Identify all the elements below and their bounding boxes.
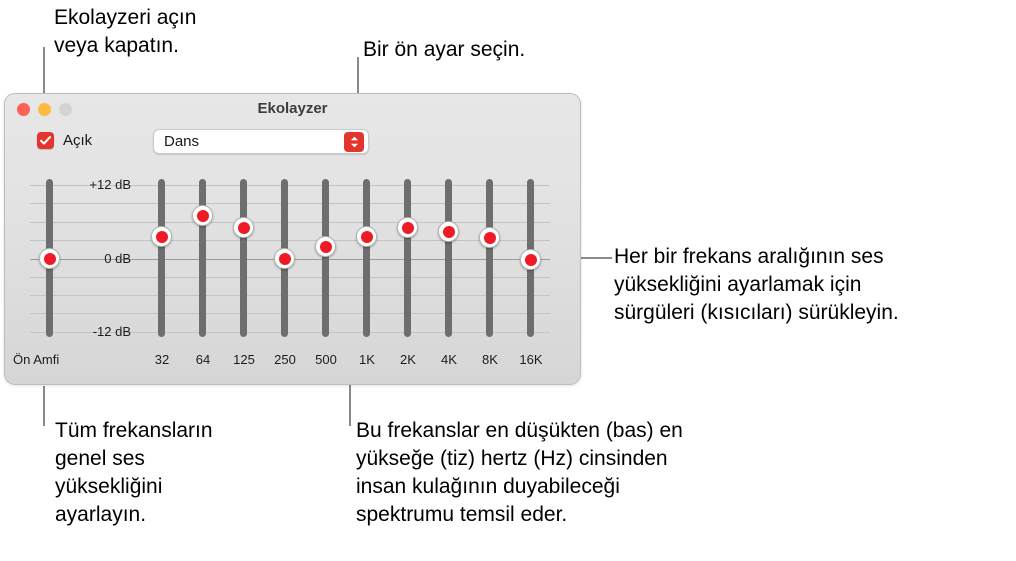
band-slider-thumb[interactable] — [274, 248, 295, 269]
band-slider-thumb-dot — [484, 232, 496, 244]
band-slider-thumb[interactable] — [479, 227, 500, 248]
frequency-label-32: 32 — [142, 352, 182, 367]
gridline — [30, 240, 550, 241]
band-slider-1k[interactable] — [363, 179, 370, 337]
band-slider-2k[interactable] — [404, 179, 411, 337]
band-slider-track[interactable] — [445, 179, 452, 337]
frequency-label-250: 250 — [265, 352, 305, 367]
band-slider-thumb-dot — [238, 222, 250, 234]
equalizer-window: Ekolayzer Açık Dans — [4, 93, 581, 385]
band-slider-thumb-dot — [156, 231, 168, 243]
band-slider-track[interactable] — [158, 179, 165, 337]
frequency-label-500: 500 — [306, 352, 346, 367]
band-slider-track[interactable] — [240, 179, 247, 337]
frequency-label-16k: 16K — [511, 352, 551, 367]
band-slider-track[interactable] — [404, 179, 411, 337]
callout-power-label: Ekolayzeri açın veya kapatın. — [54, 4, 196, 60]
gridline — [30, 295, 550, 296]
band-slider-16k[interactable] — [527, 179, 534, 337]
frequency-label-2k: 2K — [388, 352, 428, 367]
preamp-slider[interactable] — [46, 179, 53, 337]
band-slider-track[interactable] — [486, 179, 493, 337]
band-slider-thumb[interactable] — [438, 221, 459, 242]
band-slider-thumb[interactable] — [151, 226, 172, 247]
preamp-slider-thumb-dot — [44, 253, 56, 265]
gridline — [30, 222, 550, 223]
band-slider-500[interactable] — [322, 179, 329, 337]
frequency-label-1k: 1K — [347, 352, 387, 367]
gridline — [30, 203, 550, 204]
screenshot-root: Ekolayzeri açın veya kapatın. Bir ön aya… — [0, 0, 1016, 561]
band-slider-32[interactable] — [158, 179, 165, 337]
band-slider-thumb-dot — [443, 226, 455, 238]
band-slider-track[interactable] — [363, 179, 370, 337]
band-slider-thumb[interactable] — [315, 236, 336, 257]
band-slider-thumb-dot — [197, 210, 209, 222]
preamp-label: Ön Amfi — [13, 352, 59, 367]
frequency-label-8k: 8K — [470, 352, 510, 367]
leader-line-preamp — [43, 386, 45, 426]
band-slider-track[interactable] — [199, 179, 206, 337]
callout-preamp-label: Tüm frekansların genel ses yüksekliğini … — [55, 417, 213, 529]
band-slider-125[interactable] — [240, 179, 247, 337]
band-slider-250[interactable] — [281, 179, 288, 337]
scale-label-zero: 0 dB — [73, 251, 131, 266]
band-slider-thumb[interactable] — [356, 226, 377, 247]
band-slider-thumb[interactable] — [520, 249, 541, 270]
band-slider-8k[interactable] — [486, 179, 493, 337]
callout-preset-label: Bir ön ayar seçin. — [363, 36, 525, 64]
band-slider-thumb[interactable] — [233, 217, 254, 238]
frequency-label-4k: 4K — [429, 352, 469, 367]
callout-sliders-label: Her bir frekans aralığının ses yüksekliğ… — [614, 243, 899, 327]
scale-label-minus12: -12 dB — [73, 324, 131, 339]
band-slider-thumb-dot — [361, 231, 373, 243]
band-slider-thumb-dot — [525, 254, 537, 266]
band-slider-4k[interactable] — [445, 179, 452, 337]
gridline — [30, 277, 550, 278]
gridline — [30, 313, 550, 314]
band-slider-track[interactable] — [322, 179, 329, 337]
band-slider-thumb-dot — [320, 241, 332, 253]
callout-frequencies-label: Bu frekanslar en düşükten (bas) en yükse… — [356, 417, 683, 529]
band-slider-thumb[interactable] — [192, 205, 213, 226]
band-slider-thumb[interactable] — [397, 217, 418, 238]
band-slider-thumb-dot — [279, 253, 291, 265]
equalizer-board: +12 dB 0 dB -12 dB Ön Amfi — [5, 94, 580, 384]
frequency-label-64: 64 — [183, 352, 223, 367]
band-slider-64[interactable] — [199, 179, 206, 337]
preamp-slider-thumb[interactable] — [39, 248, 60, 269]
scale-label-plus12: +12 dB — [73, 177, 131, 192]
frequency-label-125: 125 — [224, 352, 264, 367]
band-slider-thumb-dot — [402, 222, 414, 234]
